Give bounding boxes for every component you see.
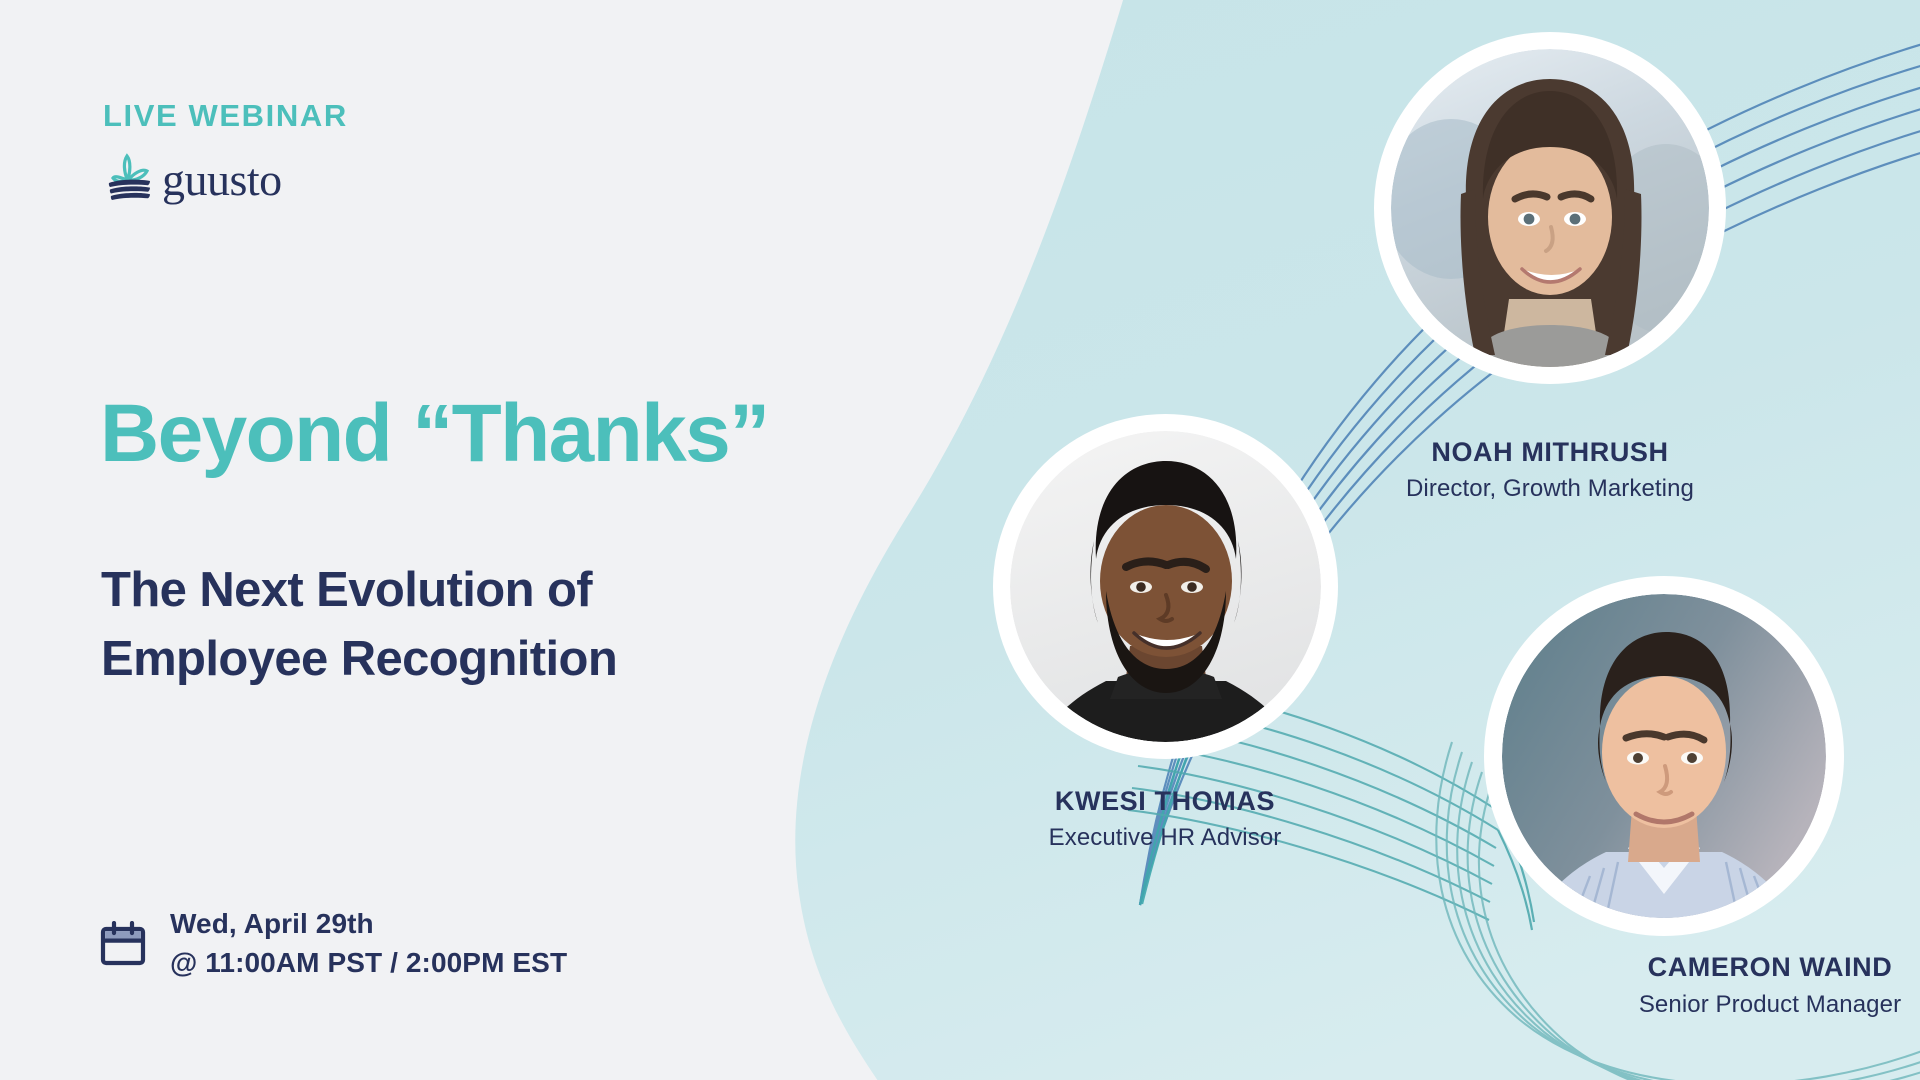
avatar-kwesi [993, 414, 1338, 759]
calendar-icon [100, 921, 146, 967]
avatar-noah-photo-clip [1391, 49, 1709, 367]
avatar-kwesi-photo-clip [1010, 431, 1321, 742]
schedule-time: @ 11:00AM PST / 2:00PM EST [170, 944, 567, 983]
avatar-noah [1374, 32, 1726, 384]
speaker-title-cameron: Senior Product Manager [1400, 991, 1920, 1019]
schedule-text: Wed, April 29th @ 11:00AM PST / 2:00PM E… [170, 905, 567, 982]
avatar-photo-kwesi [1010, 431, 1321, 742]
webinar-promo-banner: LIVE WEBINAR guusto Beyond “Thanks” [0, 0, 1920, 1080]
schedule-date: Wed, April 29th [170, 905, 567, 944]
left-content-column: LIVE WEBINAR guusto Beyond “Thanks” [100, 0, 920, 1080]
speaker-name-noah: NOAH MITHRUSH [1180, 437, 1920, 468]
guusto-logo: guusto [100, 148, 282, 206]
page-subtitle: The Next Evolution of Employee Recogniti… [101, 556, 617, 695]
speaker-name-kwesi: KWESI THOMAS [865, 786, 1465, 817]
speaker-title-kwesi: Executive HR Advisor [865, 824, 1465, 852]
page-subtitle-line-1: The Next Evolution of [101, 556, 617, 626]
guusto-sprout-logo-icon [100, 148, 158, 206]
avatar-photo-noah [1391, 49, 1709, 367]
avatar-cameron-photo-clip [1502, 594, 1826, 918]
page-subtitle-line-2: Employee Recognition [101, 625, 617, 695]
avatar-cameron [1484, 576, 1844, 936]
page-title: Beyond “Thanks” [100, 392, 769, 476]
eyebrow-live-webinar: LIVE WEBINAR [103, 98, 348, 134]
speaker-name-cameron: CAMERON WAIND [1400, 952, 1920, 983]
schedule-block: Wed, April 29th @ 11:00AM PST / 2:00PM E… [100, 905, 567, 982]
avatar-photo-cameron [1502, 594, 1826, 918]
background-blob-shape [795, 0, 1920, 1080]
guusto-logo-wordmark: guusto [162, 157, 282, 203]
